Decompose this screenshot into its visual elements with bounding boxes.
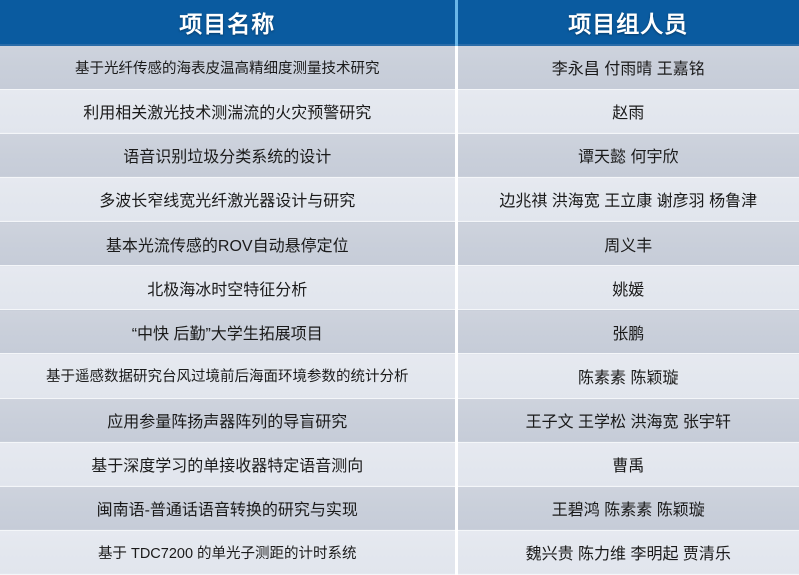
table-row: 基于遥感数据研究台风过境前后海面环境参数的统计分析陈素素 陈颖璇 bbox=[0, 354, 799, 398]
cell-project-name: 北极海冰时空特征分析 bbox=[0, 266, 456, 310]
table-row: 基于深度学习的单接收器特定语音测向曹禹 bbox=[0, 442, 799, 486]
table-row: 语音识别垃圾分类系统的设计谭天懿 何宇欣 bbox=[0, 133, 799, 177]
table-row: 基本光流传感的ROV自动悬停定位周义丰 bbox=[0, 222, 799, 266]
cell-project-name: 基本光流传感的ROV自动悬停定位 bbox=[0, 222, 456, 266]
cell-project-name: 多波长窄线宽光纤激光器设计与研究 bbox=[0, 177, 456, 221]
cell-team-members: 谭天懿 何宇欣 bbox=[456, 133, 799, 177]
cell-team-members: 姚媛 bbox=[456, 266, 799, 310]
table-row: 基于光纤传感的海表皮温高精细度测量技术研究李永昌 付雨晴 王嘉铭 bbox=[0, 45, 799, 89]
table-row: 基于 TDC7200 的单光子测距的计时系统魏兴贵 陈力维 李明起 贾清乐 bbox=[0, 530, 799, 574]
cell-team-members: 赵雨 bbox=[456, 89, 799, 133]
cell-team-members: 曹禹 bbox=[456, 442, 799, 486]
table-row: “中快 后勤”大学生拓展项目张鹏 bbox=[0, 310, 799, 354]
cell-project-name: 基于光纤传感的海表皮温高精细度测量技术研究 bbox=[0, 45, 456, 89]
cell-project-name: “中快 后勤”大学生拓展项目 bbox=[0, 310, 456, 354]
cell-project-name: 基于遥感数据研究台风过境前后海面环境参数的统计分析 bbox=[0, 354, 456, 398]
table-header: 项目名称 项目组人员 bbox=[0, 0, 799, 45]
cell-team-members: 王子文 王学松 洪海宽 张宇轩 bbox=[456, 398, 799, 442]
cell-team-members: 魏兴贵 陈力维 李明起 贾清乐 bbox=[456, 530, 799, 574]
cell-project-name: 语音识别垃圾分类系统的设计 bbox=[0, 133, 456, 177]
table-row: 应用参量阵扬声器阵列的导盲研究王子文 王学松 洪海宽 张宇轩 bbox=[0, 398, 799, 442]
table-body: 基于光纤传感的海表皮温高精细度测量技术研究李永昌 付雨晴 王嘉铭利用相关激光技术… bbox=[0, 45, 799, 575]
project-table: 项目名称 项目组人员 基于光纤传感的海表皮温高精细度测量技术研究李永昌 付雨晴 … bbox=[0, 0, 799, 575]
table-row: 多波长窄线宽光纤激光器设计与研究边兆祺 洪海宽 王立康 谢彦羽 杨鲁津 bbox=[0, 177, 799, 221]
cell-project-name: 闽南语-普通话语音转换的研究与实现 bbox=[0, 486, 456, 530]
cell-team-members: 周义丰 bbox=[456, 222, 799, 266]
column-header-team-members: 项目组人员 bbox=[456, 0, 799, 45]
table-row: 北极海冰时空特征分析姚媛 bbox=[0, 266, 799, 310]
header-row: 项目名称 项目组人员 bbox=[0, 0, 799, 45]
cell-team-members: 张鹏 bbox=[456, 310, 799, 354]
cell-team-members: 王碧鸿 陈素素 陈颖璇 bbox=[456, 486, 799, 530]
table-row: 利用相关激光技术测湍流的火灾预警研究赵雨 bbox=[0, 89, 799, 133]
table-row: 闽南语-普通话语音转换的研究与实现王碧鸿 陈素素 陈颖璇 bbox=[0, 486, 799, 530]
cell-team-members: 李永昌 付雨晴 王嘉铭 bbox=[456, 45, 799, 89]
cell-project-name: 利用相关激光技术测湍流的火灾预警研究 bbox=[0, 89, 456, 133]
column-header-project-name: 项目名称 bbox=[0, 0, 456, 45]
cell-project-name: 基于 TDC7200 的单光子测距的计时系统 bbox=[0, 530, 456, 574]
cell-project-name: 基于深度学习的单接收器特定语音测向 bbox=[0, 442, 456, 486]
cell-team-members: 边兆祺 洪海宽 王立康 谢彦羽 杨鲁津 bbox=[456, 177, 799, 221]
cell-project-name: 应用参量阵扬声器阵列的导盲研究 bbox=[0, 398, 456, 442]
cell-team-members: 陈素素 陈颖璇 bbox=[456, 354, 799, 398]
